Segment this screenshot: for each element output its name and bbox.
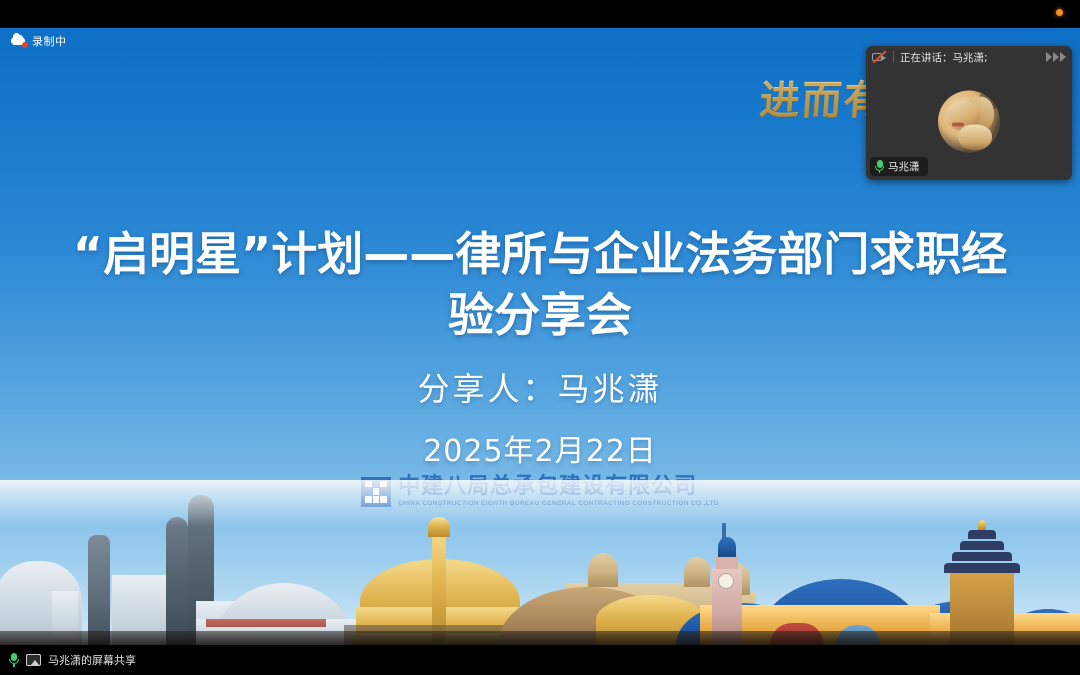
city-skyline-image [0,480,1080,645]
screen-share-icon[interactable] [26,654,41,666]
recording-label: 录制中 [32,33,67,49]
slide-title: “启明星”计划——律所与企业法务部门求职经验分享会 [60,224,1020,345]
recording-indicator[interactable]: 录制中 [8,31,74,50]
camera-off-icon[interactable] [872,51,887,63]
microphone-on-icon[interactable] [9,653,19,667]
status-indicator-dot [1056,9,1063,16]
speaking-label: 正在讲话：马兆潇; [900,50,1040,65]
video-panel-body[interactable]: 马兆潇 [866,68,1072,180]
avatar [938,91,1000,153]
header-divider [893,51,894,63]
top-letterbox-bar [0,0,1080,28]
slide-date: 2025年2月22日 [0,426,1080,470]
chevron-collapse-icon[interactable] [1046,52,1066,62]
bottom-status-bar: 马兆潇的屏幕共享 [0,645,1080,675]
meeting-screen: 进而有 “启明星”计划——律所与企业法务部门求职经验分享会 分享人：马兆潇 20… [0,0,1080,675]
participant-name-badge: 马兆潇 [870,157,928,176]
cloud-record-icon [11,35,27,47]
screen-share-label: 马兆潇的屏幕共享 [48,652,136,668]
participant-name: 马兆潇 [888,159,920,174]
slide-presenter: 分享人：马兆潇 [0,364,1080,410]
microphone-on-icon [875,160,884,173]
video-panel[interactable]: 正在讲话：马兆潇; 马兆潇 [866,46,1072,180]
video-panel-header[interactable]: 正在讲话：马兆潇; [866,46,1072,68]
